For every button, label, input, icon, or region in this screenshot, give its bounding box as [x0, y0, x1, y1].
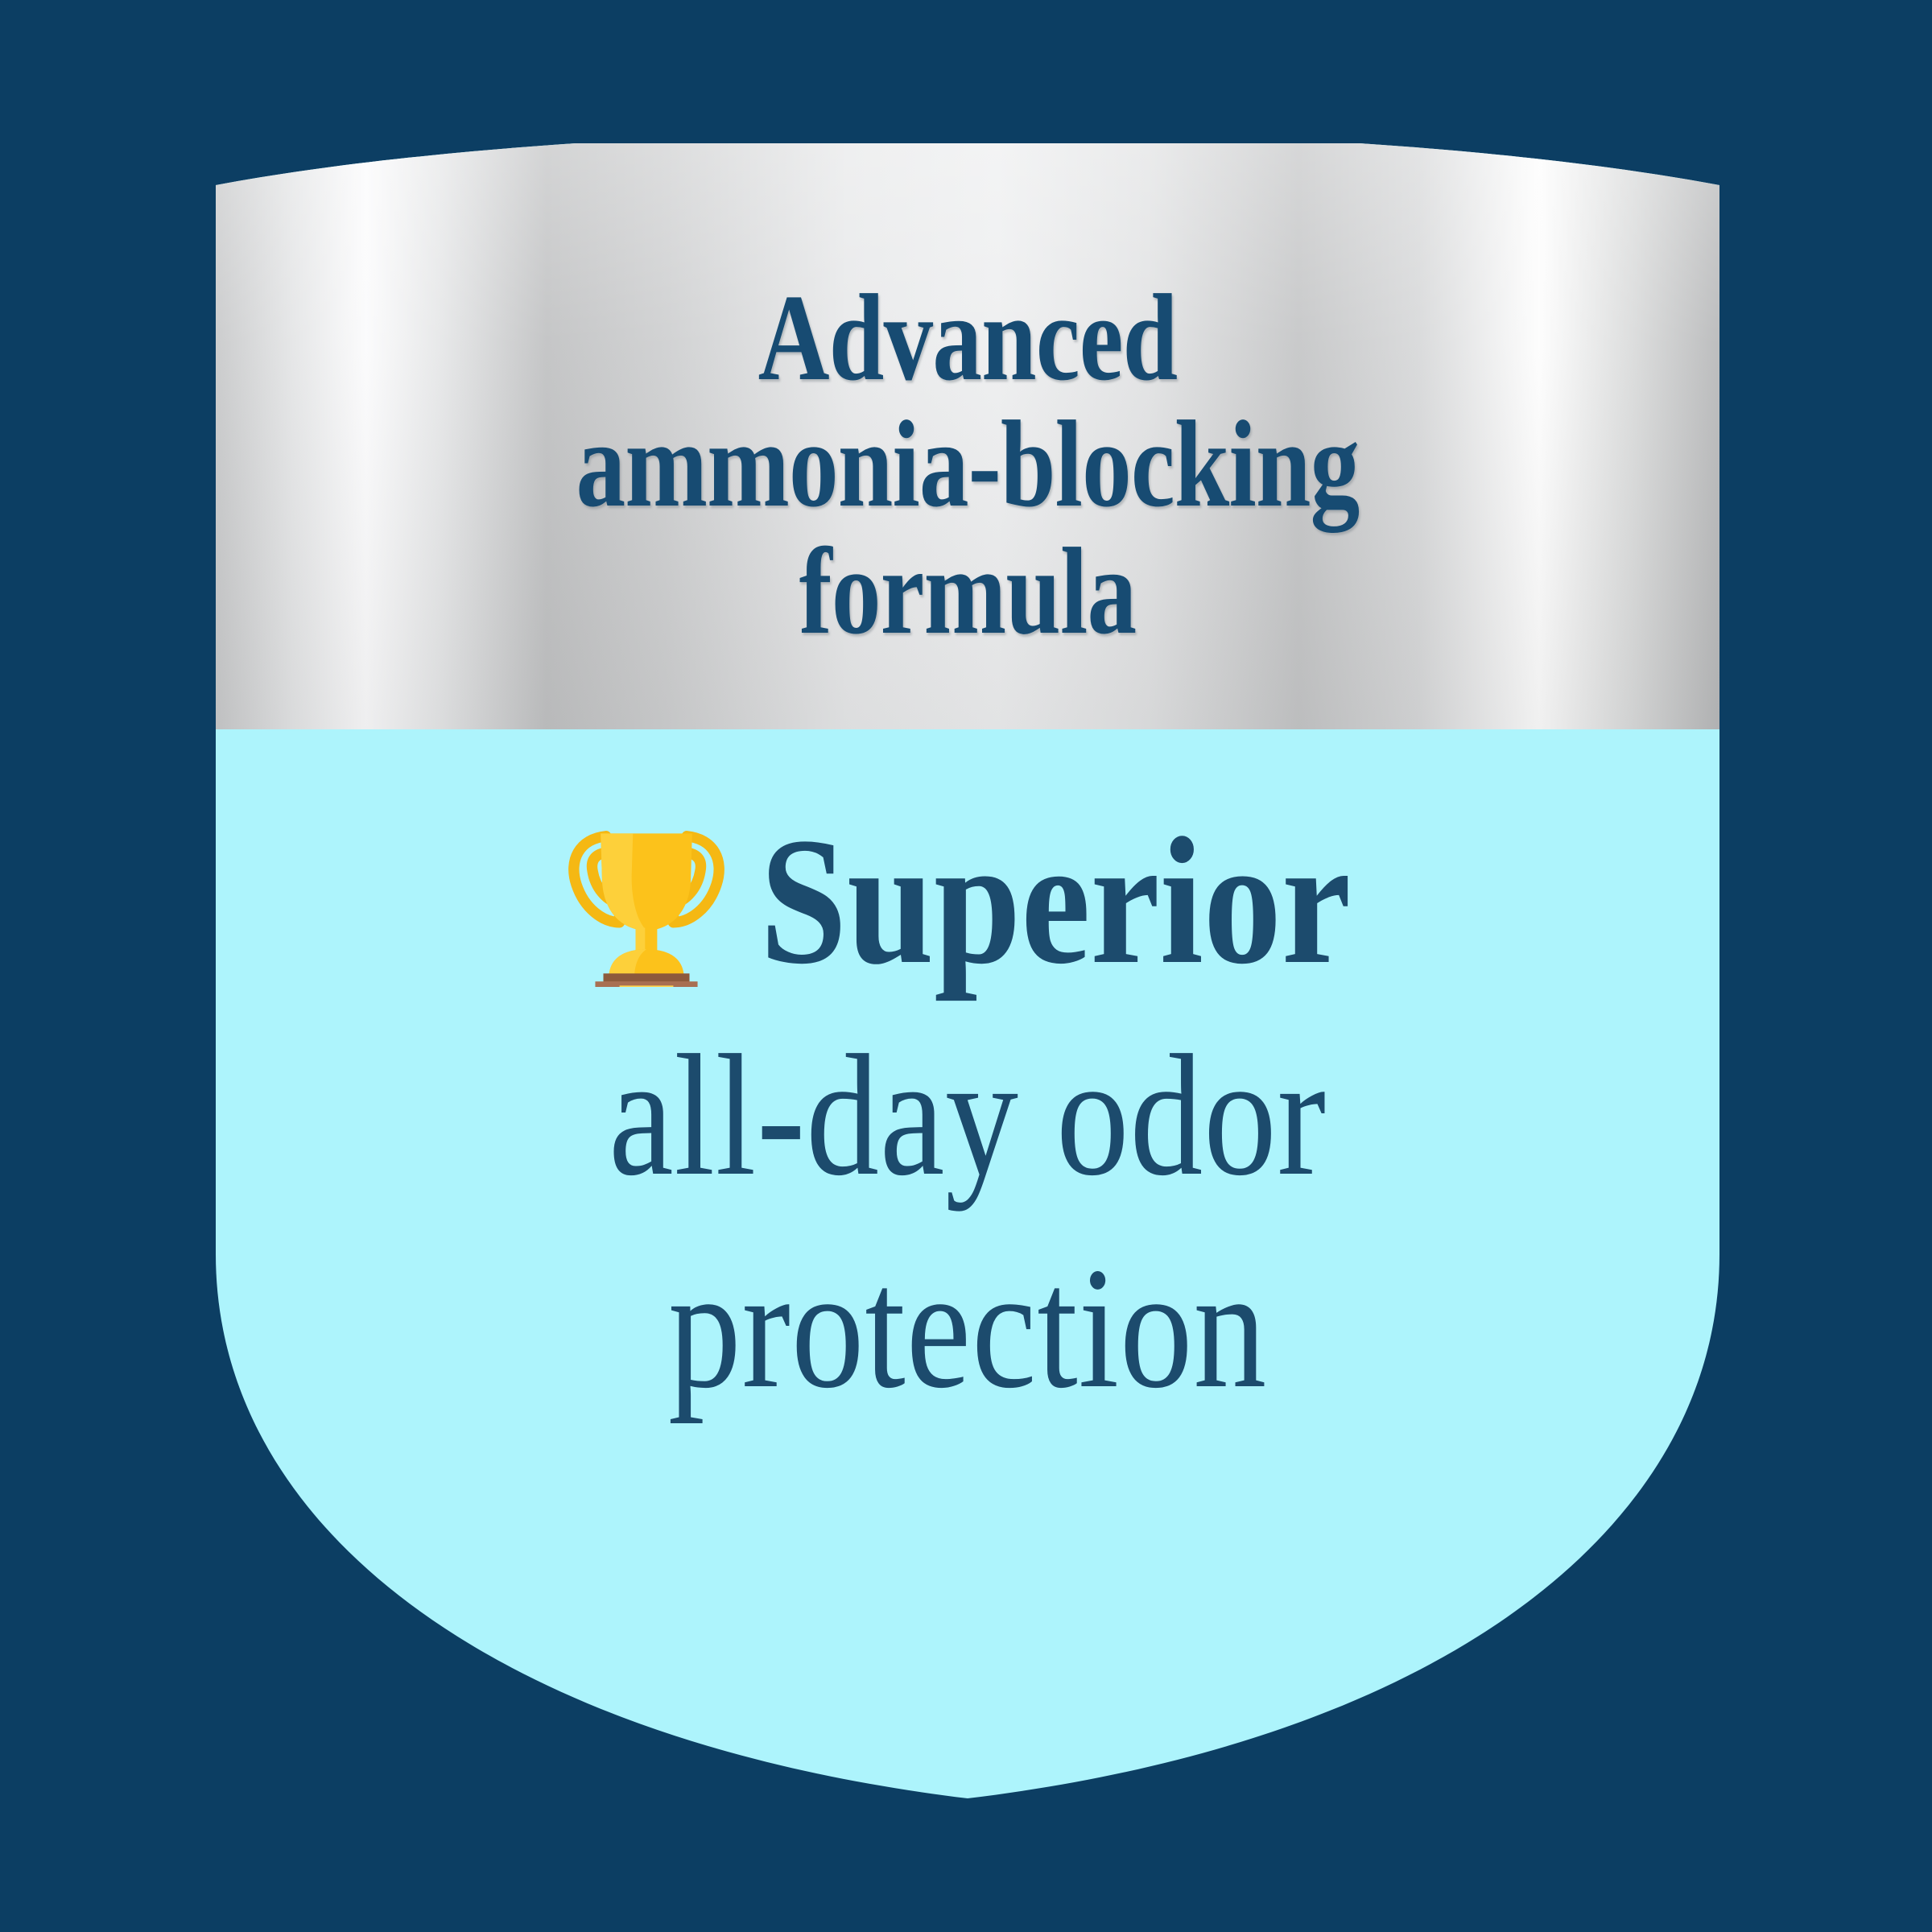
- badge-canvas: Advanced ammonia-blocking formula: [0, 0, 1932, 1932]
- shield-badge: [216, 143, 1719, 1800]
